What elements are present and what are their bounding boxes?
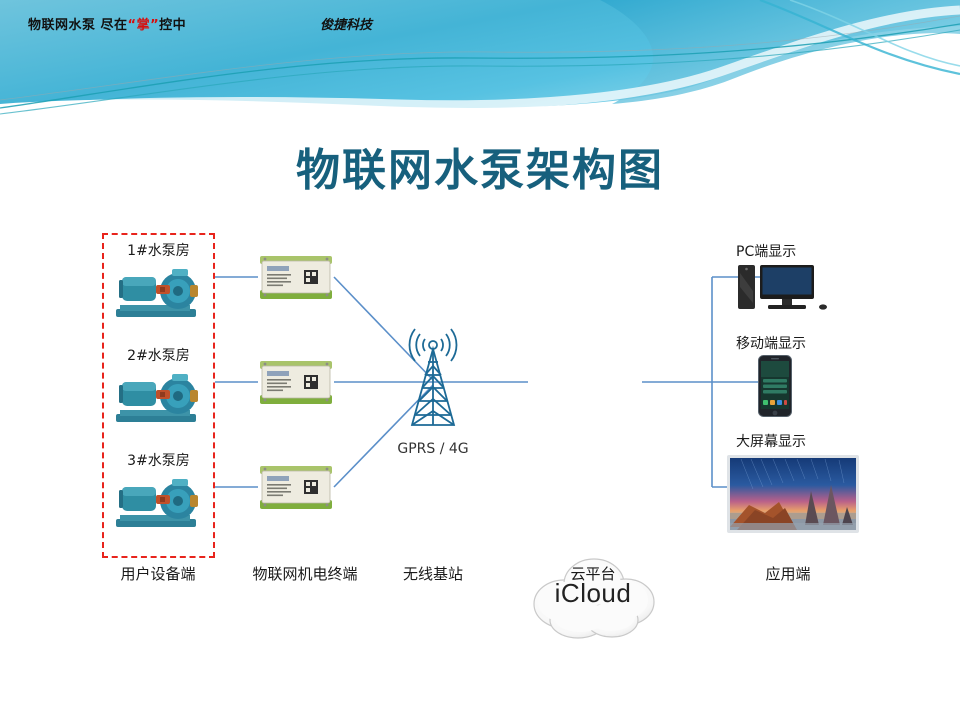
stage-label-cloud-platform: 云平台 bbox=[528, 563, 658, 584]
stage-label-user-equipment: 用户设备端 bbox=[98, 563, 218, 584]
water-pump-icon-1 bbox=[110, 265, 206, 323]
water-pump-icon-3 bbox=[110, 475, 206, 533]
large-screen-icon bbox=[727, 455, 859, 533]
water-pump-icon-2 bbox=[110, 370, 206, 428]
iot-gateway-icon-1 bbox=[258, 252, 334, 302]
iot-gateway-icon-2 bbox=[258, 357, 334, 407]
stage-label-iot-terminal: 物联网机电终端 bbox=[220, 563, 390, 584]
iot-gateway-icon-3 bbox=[258, 462, 334, 512]
slogan-highlight: 掌 bbox=[137, 18, 151, 33]
smartphone-icon bbox=[758, 355, 792, 417]
slogan-quote-close: ” bbox=[150, 18, 159, 33]
slogan-quote-open: “ bbox=[128, 18, 137, 33]
desktop-computer-icon bbox=[738, 263, 830, 315]
stage-label-base-station: 无线基站 bbox=[378, 563, 488, 584]
pump-room-label-2: 2#水泵房 bbox=[102, 345, 215, 365]
tower-label: GPRS / 4G bbox=[378, 441, 488, 457]
app-label-bigscreen: 大屏幕显示 bbox=[736, 431, 806, 451]
pump-room-label-1: 1#水泵房 bbox=[102, 240, 215, 260]
slogan-part-1: 物联网水泵 尽在 bbox=[28, 18, 128, 33]
header-slogan: 物联网水泵 尽在“掌”控中 bbox=[28, 14, 186, 33]
page-title: 物联网水泵架构图 bbox=[0, 134, 960, 198]
app-label-mobile: 移动端显示 bbox=[736, 333, 806, 353]
slide-canvas: 物联网水泵 尽在“掌”控中 俊捷科技 物联网水泵架构图 bbox=[0, 0, 960, 720]
stage-label-application: 应用端 bbox=[718, 563, 858, 584]
cell-tower-icon bbox=[395, 325, 471, 435]
app-label-pc: PC端显示 bbox=[736, 241, 796, 261]
architecture-diagram: 1#水泵房 2#水泵房 bbox=[0, 215, 960, 615]
slogan-part-2: 控中 bbox=[159, 18, 186, 33]
pump-room-label-3: 3#水泵房 bbox=[102, 450, 215, 470]
brand-name: 俊捷科技 bbox=[320, 14, 372, 33]
